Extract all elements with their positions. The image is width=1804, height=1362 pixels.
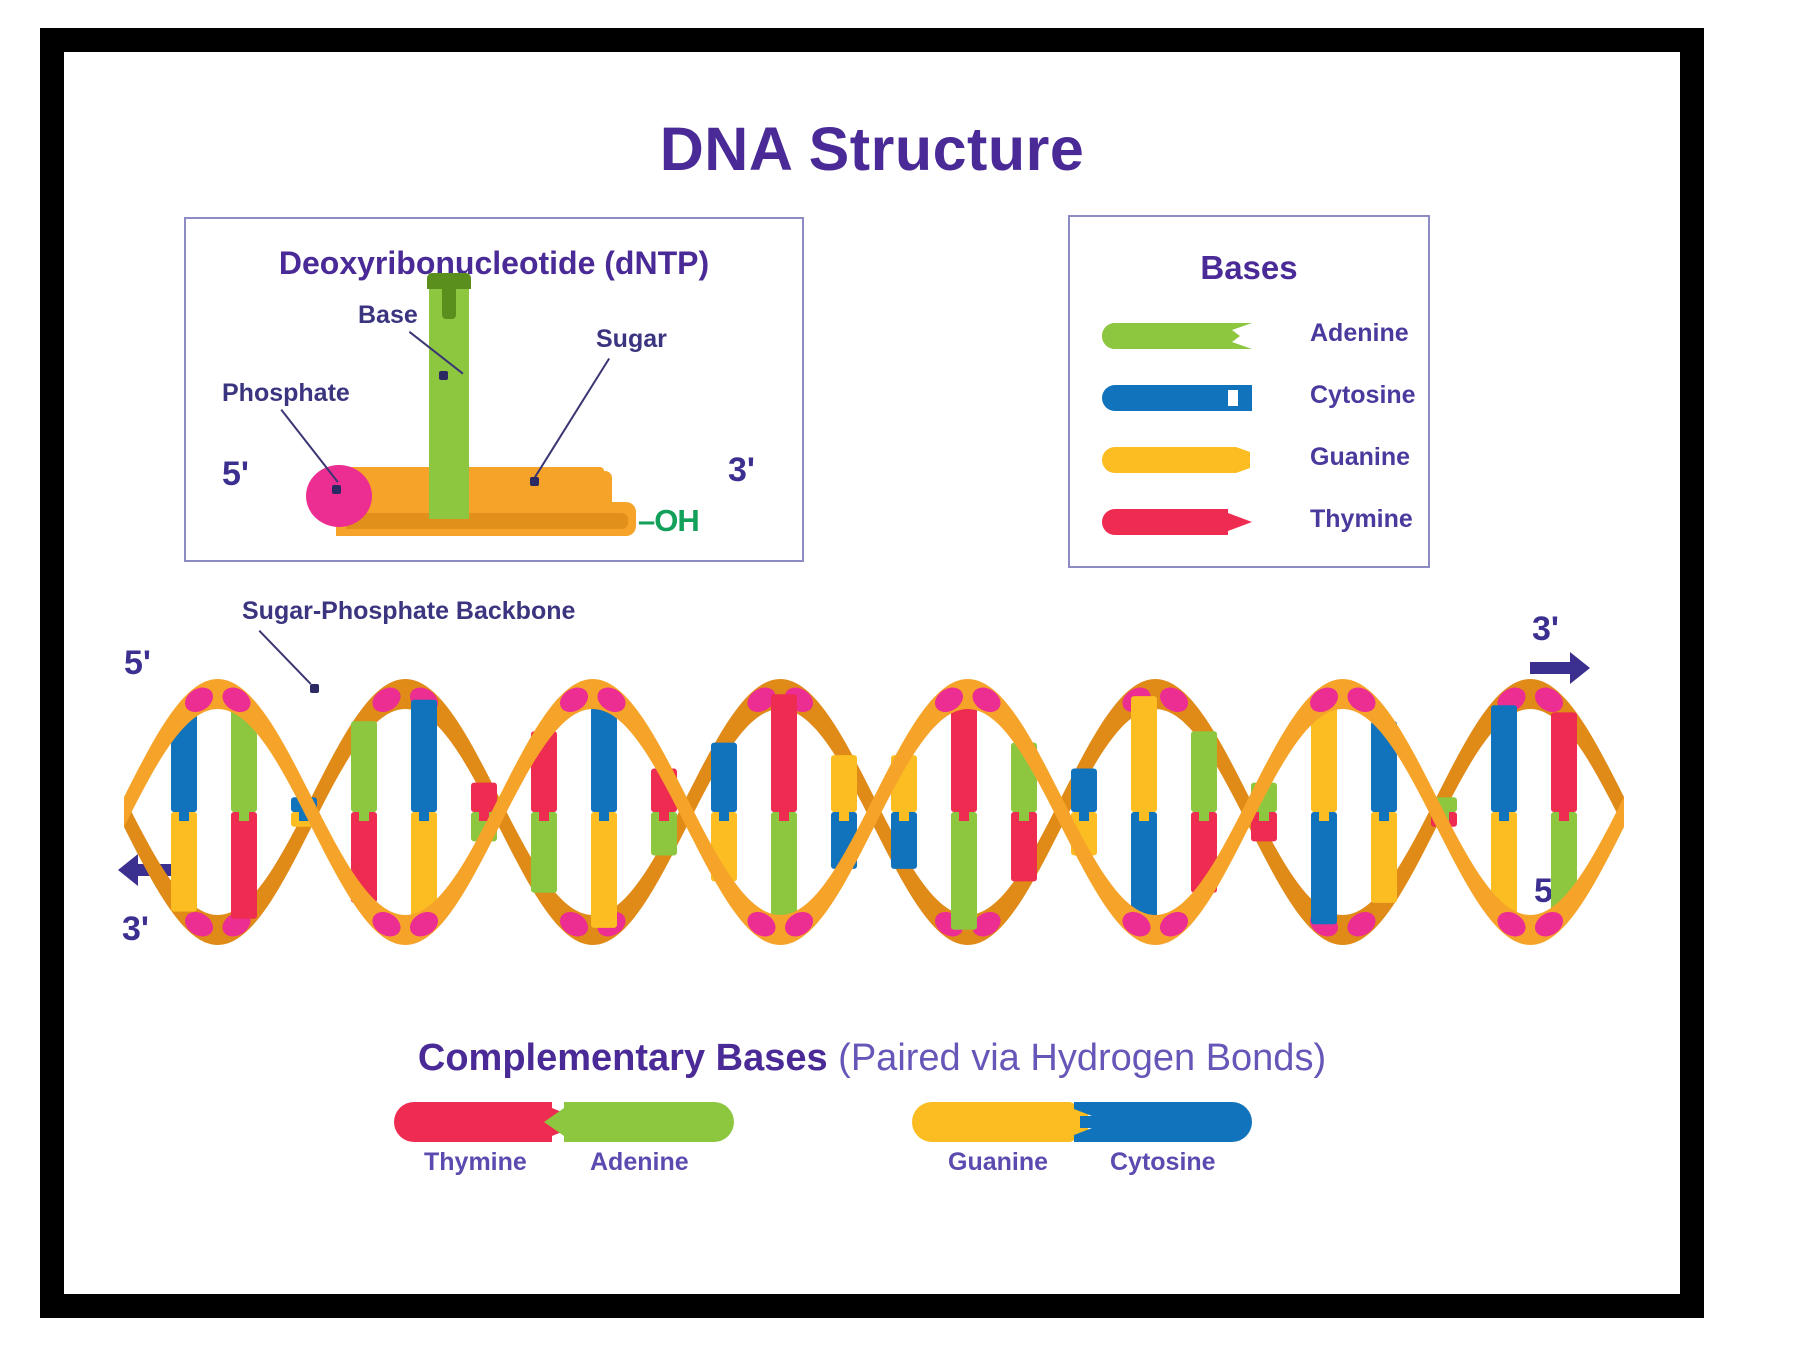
dntp-five-prime-label: 5' — [222, 455, 249, 494]
phosphate-group — [306, 465, 372, 527]
legend-label-adenine: Adenine — [1310, 319, 1409, 348]
dna-double-helix — [124, 612, 1624, 1012]
complementary-title-rest: (Paired via Hydrogen Bonds) — [828, 1037, 1326, 1079]
thymine-adenine-shape — [394, 1102, 734, 1142]
phosphate-label: Phosphate — [222, 379, 350, 408]
sugar-nub — [590, 471, 612, 511]
legend-item-thymine[interactable]: Thymine — [1102, 503, 1402, 541]
hydroxyl-label: –OH — [638, 503, 699, 539]
thymine-shape-icon — [1102, 509, 1252, 535]
legend-label-thymine: Thymine — [1310, 505, 1413, 534]
helix-svg — [124, 612, 1624, 1012]
complementary-title: Complementary Bases (Paired via Hydrogen… — [64, 1037, 1680, 1080]
bases-panel-title: Bases — [1070, 249, 1428, 287]
pair-label-guanine: Guanine — [948, 1148, 1048, 1177]
legend-item-cytosine[interactable]: Cytosine — [1102, 379, 1402, 417]
bases-legend-panel: Bases Adenine Cytosine Guanine — [1068, 215, 1430, 568]
legend-label-cytosine: Cytosine — [1310, 381, 1416, 410]
sugar-leader-dot — [530, 477, 539, 486]
legend-label-guanine: Guanine — [1310, 443, 1410, 472]
pair-label-thymine: Thymine — [424, 1148, 527, 1177]
base-pair-guanine-cytosine: Guanine Cytosine — [912, 1102, 1252, 1147]
sugar-shadow — [346, 513, 628, 529]
base-leader-dot — [439, 371, 448, 380]
dntp-panel: Deoxyribonucleotide (dNTP) 5' 3' –OH — [184, 217, 804, 562]
legend-item-adenine[interactable]: Adenine — [1102, 317, 1402, 355]
pair-label-adenine: Adenine — [590, 1148, 689, 1177]
cytosine-shape-icon — [1102, 385, 1252, 411]
base-notch — [442, 281, 456, 319]
dntp-figure: 5' 3' –OH Base Sug — [186, 219, 802, 560]
adenine-shape-icon — [1102, 323, 1252, 349]
poster-frame: DNA Structure Deoxyribonucleotide (dNTP)… — [40, 28, 1704, 1318]
dntp-three-prime-label: 3' — [728, 451, 755, 490]
sugar-leader-line — [534, 358, 610, 478]
complementary-title-bold: Complementary Bases — [418, 1037, 828, 1079]
page-title: DNA Structure — [64, 114, 1680, 184]
pair-label-cytosine: Cytosine — [1110, 1148, 1216, 1177]
phosphate-leader-line — [280, 409, 338, 483]
guanine-shape-icon — [1102, 447, 1252, 473]
base-label: Base — [358, 301, 418, 330]
base-pair-thymine-adenine: Thymine Adenine — [394, 1102, 734, 1147]
phosphate-leader-dot — [332, 485, 341, 494]
guanine-cytosine-shape — [912, 1102, 1252, 1142]
poster-canvas: DNA Structure Deoxyribonucleotide (dNTP)… — [64, 52, 1680, 1294]
sugar-label: Sugar — [596, 325, 667, 354]
legend-item-guanine[interactable]: Guanine — [1102, 441, 1402, 479]
